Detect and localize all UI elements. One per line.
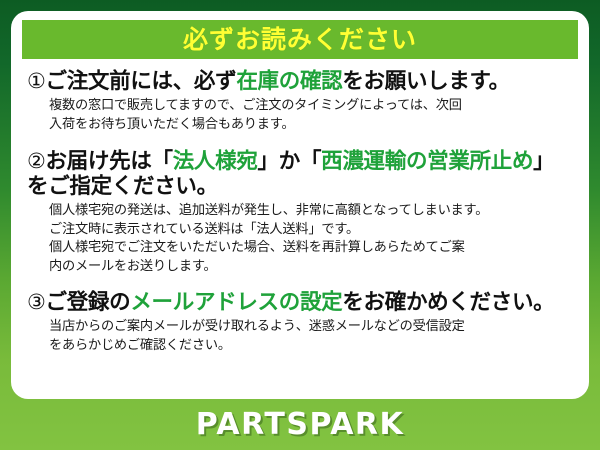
item-1-headline-accent: 在庫の確認 — [236, 69, 342, 94]
item-3-headline-accent: メールアドレスの設定 — [130, 290, 342, 315]
notice-content: ①ご注文前には、必ず在庫の確認をお願いします。 複数の窓口で販売してますので、ご… — [11, 67, 589, 397]
item-3-body-line-2: をあらかじめご確認ください。 — [49, 337, 575, 356]
item-2-headline-accent: 法人様宛 — [173, 149, 258, 174]
notice-item-2: ②お届け先は「法人様宛」か「西濃運輸の営業所止め」 をご指定ください。 個人様宅… — [27, 149, 575, 277]
item-2-headline-post: 」 — [533, 149, 554, 174]
item-1-body-line-2: 入荷をお待ち頂いただく場合もあります。 — [49, 116, 575, 135]
notice-item-3: ③ご登録のメールアドレスの設定をお確かめください。 当店からのご案内メールが受け… — [27, 290, 575, 356]
item-1-headline-pre: ご注文前には、必ず — [46, 69, 237, 94]
item-2-headline-line-2: をご指定ください。 — [27, 174, 575, 199]
item-2-headline-line-1: ②お届け先は「法人様宛」か「西濃運輸の営業所止め」 — [27, 149, 575, 174]
item-2-headline-accent-2: 西濃運輸の営業所止め — [321, 149, 533, 174]
notice-item-1: ①ご注文前には、必ず在庫の確認をお願いします。 複数の窓口で販売してますので、ご… — [27, 69, 575, 135]
title-bar: 必ずお読みください — [22, 20, 578, 59]
item-2-body-line-1: 個人様宅宛の発送は、追加送料が発生し、非常に高額となってしまいます。 — [49, 202, 575, 221]
notice-card: 必ずお読みください ①ご注文前には、必ず在庫の確認をお願いします。 複数の窓口で… — [11, 11, 589, 399]
item-2-headline-mid: 」か「 — [258, 149, 322, 174]
item-2-body-line-4: 内のメールをお送りします。 — [49, 258, 575, 277]
notice-banner: 必ずお読みください ①ご注文前には、必ず在庫の確認をお願いします。 複数の窓口で… — [0, 0, 600, 450]
item-2-headline-pre: お届け先は「 — [46, 149, 173, 174]
item-2-body: 個人様宅宛の発送は、追加送料が発生し、非常に高額となってしまいます。 ご注文時に… — [49, 202, 575, 277]
item-3-body-line-1: 当店からのご案内メールが受け取れるよう、迷惑メールなどの受信設定 — [49, 318, 575, 337]
item-3-headline-post: をお確かめください。 — [342, 290, 554, 315]
footer-bar: PARTSPARK — [0, 399, 600, 450]
item-2-body-line-2: ご注文時に表示されている送料は「法人送料」です。 — [49, 221, 575, 240]
item-3-headline-pre: ご登録の — [46, 290, 131, 315]
item-1-body: 複数の窓口で販売してますので、ご注文のタイミングによっては、次回 入荷をお待ち頂… — [49, 97, 575, 134]
item-2-marker: ② — [27, 149, 46, 173]
brand-wordmark: PARTSPARK — [196, 410, 405, 440]
banner-title: 必ずお読みください — [183, 27, 417, 52]
item-1-marker: ① — [27, 69, 46, 93]
item-3-marker: ③ — [27, 290, 46, 314]
item-2-body-line-3: 個人様宅宛でご注文をいただいた場合、送料を再計算しあらためてご案 — [49, 239, 575, 258]
item-1-body-line-1: 複数の窓口で販売してますので、ご注文のタイミングによっては、次回 — [49, 97, 575, 116]
item-1-headline: ①ご注文前には、必ず在庫の確認をお願いします。 — [27, 69, 575, 94]
item-3-headline: ③ご登録のメールアドレスの設定をお確かめください。 — [27, 290, 575, 315]
item-1-headline-post: をお願いします。 — [342, 69, 509, 94]
item-3-body: 当店からのご案内メールが受け取れるよう、迷惑メールなどの受信設定 をあらかじめご… — [49, 318, 575, 355]
